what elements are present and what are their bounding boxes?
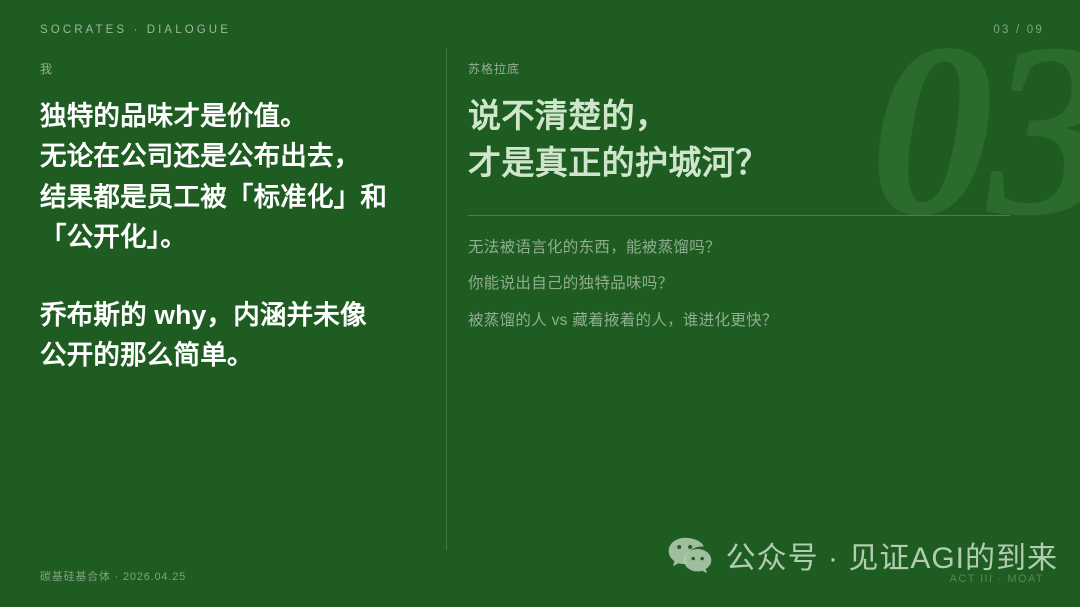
wechat-watermark: 公众号 · 见证AGI的到来 xyxy=(668,533,1058,577)
slide-canvas: 03 SOCRATES · DIALOGUE 03 / 09 我 独特的品味才是… xyxy=(0,0,1080,607)
right-speaker-label: 苏格拉底 xyxy=(468,60,1016,77)
footer-credit: 碳基硅基合体 · 2026.04.25 xyxy=(40,568,186,584)
slide-page-indicator: 03 / 09 xyxy=(993,24,1044,36)
column-divider xyxy=(446,48,447,550)
left-line-1: 独特的品味才是价值。 xyxy=(40,96,426,136)
headline-line-1: 说不清楚的， xyxy=(468,97,668,134)
left-column: 我 独特的品味才是价值。 无论在公司还是公布出去， 结果都是员工被「标准化」和 … xyxy=(40,60,426,376)
wechat-icon xyxy=(668,537,712,573)
left-line-3: 结果都是员工被「标准化」和 xyxy=(40,177,426,217)
headline-underline-rule xyxy=(468,215,1010,216)
left-second-block-line-2: 公开的那么简单。 xyxy=(40,335,426,375)
act-moat-mark: ACT III · MOAT xyxy=(950,573,1044,585)
left-speaker-label: 我 xyxy=(40,60,426,77)
left-line-4: 「公开化」。 xyxy=(40,217,426,257)
question-item: 你能说出自己的独特品味吗？ xyxy=(468,276,1016,292)
headline-line-2: 才是真正的护城河？ xyxy=(468,144,769,181)
question-list: 无法被语言化的东西，能被蒸馏吗？ 你能说出自己的独特品味吗？ 被蒸馏的人 vs … xyxy=(468,240,1016,329)
slide-eyebrow-label: SOCRATES · DIALOGUE xyxy=(40,24,231,36)
left-line-2: 无论在公司还是公布出去， xyxy=(40,136,426,176)
left-body-text: 独特的品味才是价值。 无论在公司还是公布出去， 结果都是员工被「标准化」和 「公… xyxy=(40,96,426,376)
left-second-block-line-1: 乔布斯的 why，内涵并未像 xyxy=(40,295,426,335)
question-item: 被蒸馏的人 vs 藏着掖着的人，谁进化更快？ xyxy=(468,313,1016,329)
right-column: 苏格拉底 说不清楚的， 才是真正的护城河？ 无法被语言化的东西，能被蒸馏吗？ 你… xyxy=(468,60,1016,328)
wechat-watermark-text: 公众号 · 见证AGI的到来 xyxy=(726,533,1058,577)
right-headline: 说不清楚的， 才是真正的护城河？ xyxy=(468,93,1016,187)
question-item: 无法被语言化的东西，能被蒸馏吗？ xyxy=(468,240,1016,256)
